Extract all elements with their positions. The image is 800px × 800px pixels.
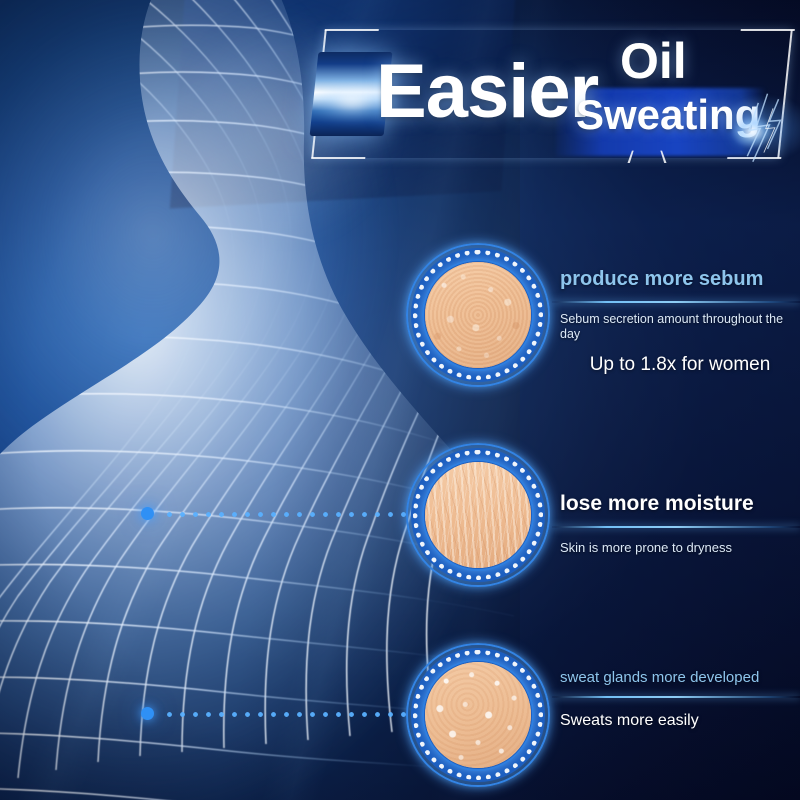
skin-sample-circle-sweat [406, 643, 550, 787]
connector-dotted-line [163, 512, 413, 517]
info-block-divider [552, 696, 800, 698]
info-block-subtext: Sebum secretion amount throughout the da… [560, 312, 800, 342]
info-block-emphasis: Up to 1.8x for women [560, 354, 800, 377]
headline-main-word: Easier [376, 54, 598, 130]
sebum-skin-texture [425, 262, 531, 368]
info-block-title: sweat glands more developed [560, 670, 800, 687]
connector-node [141, 507, 154, 520]
info-block-sebum: produce more sebum Sebum secretion amoun… [560, 268, 800, 377]
skin-swatch [425, 262, 531, 368]
connector-dotted-line [163, 712, 413, 717]
info-block-sweat: sweat glands more developed Sweats more … [560, 670, 800, 730]
info-block-title: lose more moisture [560, 492, 800, 515]
info-block-subtext: Skin is more prone to dryness [560, 540, 800, 556]
connector-node [141, 707, 154, 720]
info-block-divider [552, 526, 800, 528]
skin-sample-circle-sebum [406, 243, 550, 387]
dry-skin-texture [425, 462, 531, 568]
poster-root: Easier Oil Sweating [0, 0, 800, 800]
lightning-bolt-icon [716, 90, 800, 182]
info-block-divider [552, 301, 800, 303]
info-block-emphasis: Sweats more easily [560, 711, 800, 730]
headline-group: Easier Oil Sweating [318, 30, 786, 158]
info-block-moisture: lose more moisture Skin is more prone to… [560, 492, 800, 556]
connector-line-moisture [141, 508, 413, 518]
skin-sample-circle-moisture [406, 443, 550, 587]
skin-swatch [425, 662, 531, 768]
skin-swatch [425, 462, 531, 568]
headline-v-notch [627, 151, 666, 163]
headline-word-oil: Oil [620, 36, 687, 86]
sweaty-skin-texture [425, 662, 531, 768]
info-block-title: produce more sebum [560, 268, 800, 290]
connector-line-sweat [141, 708, 413, 718]
